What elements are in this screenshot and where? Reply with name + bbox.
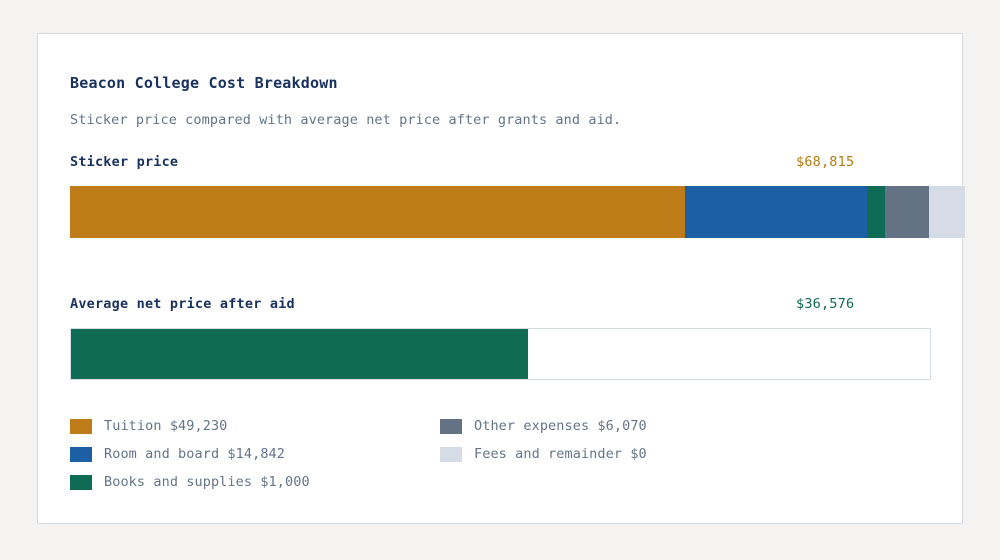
legend-swatch-icon (440, 447, 462, 462)
legend-swatch-icon (70, 419, 92, 434)
sticker-price-stacked-bar (70, 186, 965, 238)
legend-swatch-icon (70, 475, 92, 490)
legend-swatch-icon (70, 447, 92, 462)
net-price-bar-fill (71, 329, 528, 379)
sticker-price-value: $68,815 (796, 154, 854, 170)
sticker-price-label: Sticker price (70, 154, 178, 170)
legend-swatch-icon (440, 419, 462, 434)
legend-item-label: Tuition $49,230 (104, 418, 227, 434)
legend-column-right: Other expenses $6,070Fees and remainder … (440, 412, 647, 468)
legend-item-label: Other expenses $6,070 (474, 418, 647, 434)
cost-breakdown-card: Beacon College Cost Breakdown Sticker pr… (37, 33, 963, 524)
legend-item: Tuition $49,230 (70, 412, 310, 440)
legend-item-label: Fees and remainder $0 (474, 446, 647, 462)
net-price-bar-track (70, 328, 931, 380)
segment-other-expenses (885, 186, 929, 238)
legend-item: Other expenses $6,070 (440, 412, 647, 440)
legend-item: Books and supplies $1,000 (70, 468, 310, 496)
legend-item-label: Room and board $14,842 (104, 446, 285, 462)
net-price-label: Average net price after aid (70, 296, 295, 312)
segment-tuition (70, 186, 685, 238)
legend-column-left: Tuition $49,230Room and board $14,842Boo… (70, 412, 310, 496)
card-content: Beacon College Cost Breakdown Sticker pr… (70, 34, 930, 523)
legend-item: Room and board $14,842 (70, 440, 310, 468)
segment-room-and-board (685, 186, 868, 238)
page-title: Beacon College Cost Breakdown (70, 74, 338, 92)
segment-books-and-supplies (867, 186, 885, 238)
legend-item-label: Books and supplies $1,000 (104, 474, 310, 490)
segment-fees-and-remainder (929, 186, 965, 238)
page-subtitle: Sticker price compared with average net … (70, 112, 621, 128)
net-price-value: $36,576 (796, 296, 854, 312)
legend-item: Fees and remainder $0 (440, 440, 647, 468)
